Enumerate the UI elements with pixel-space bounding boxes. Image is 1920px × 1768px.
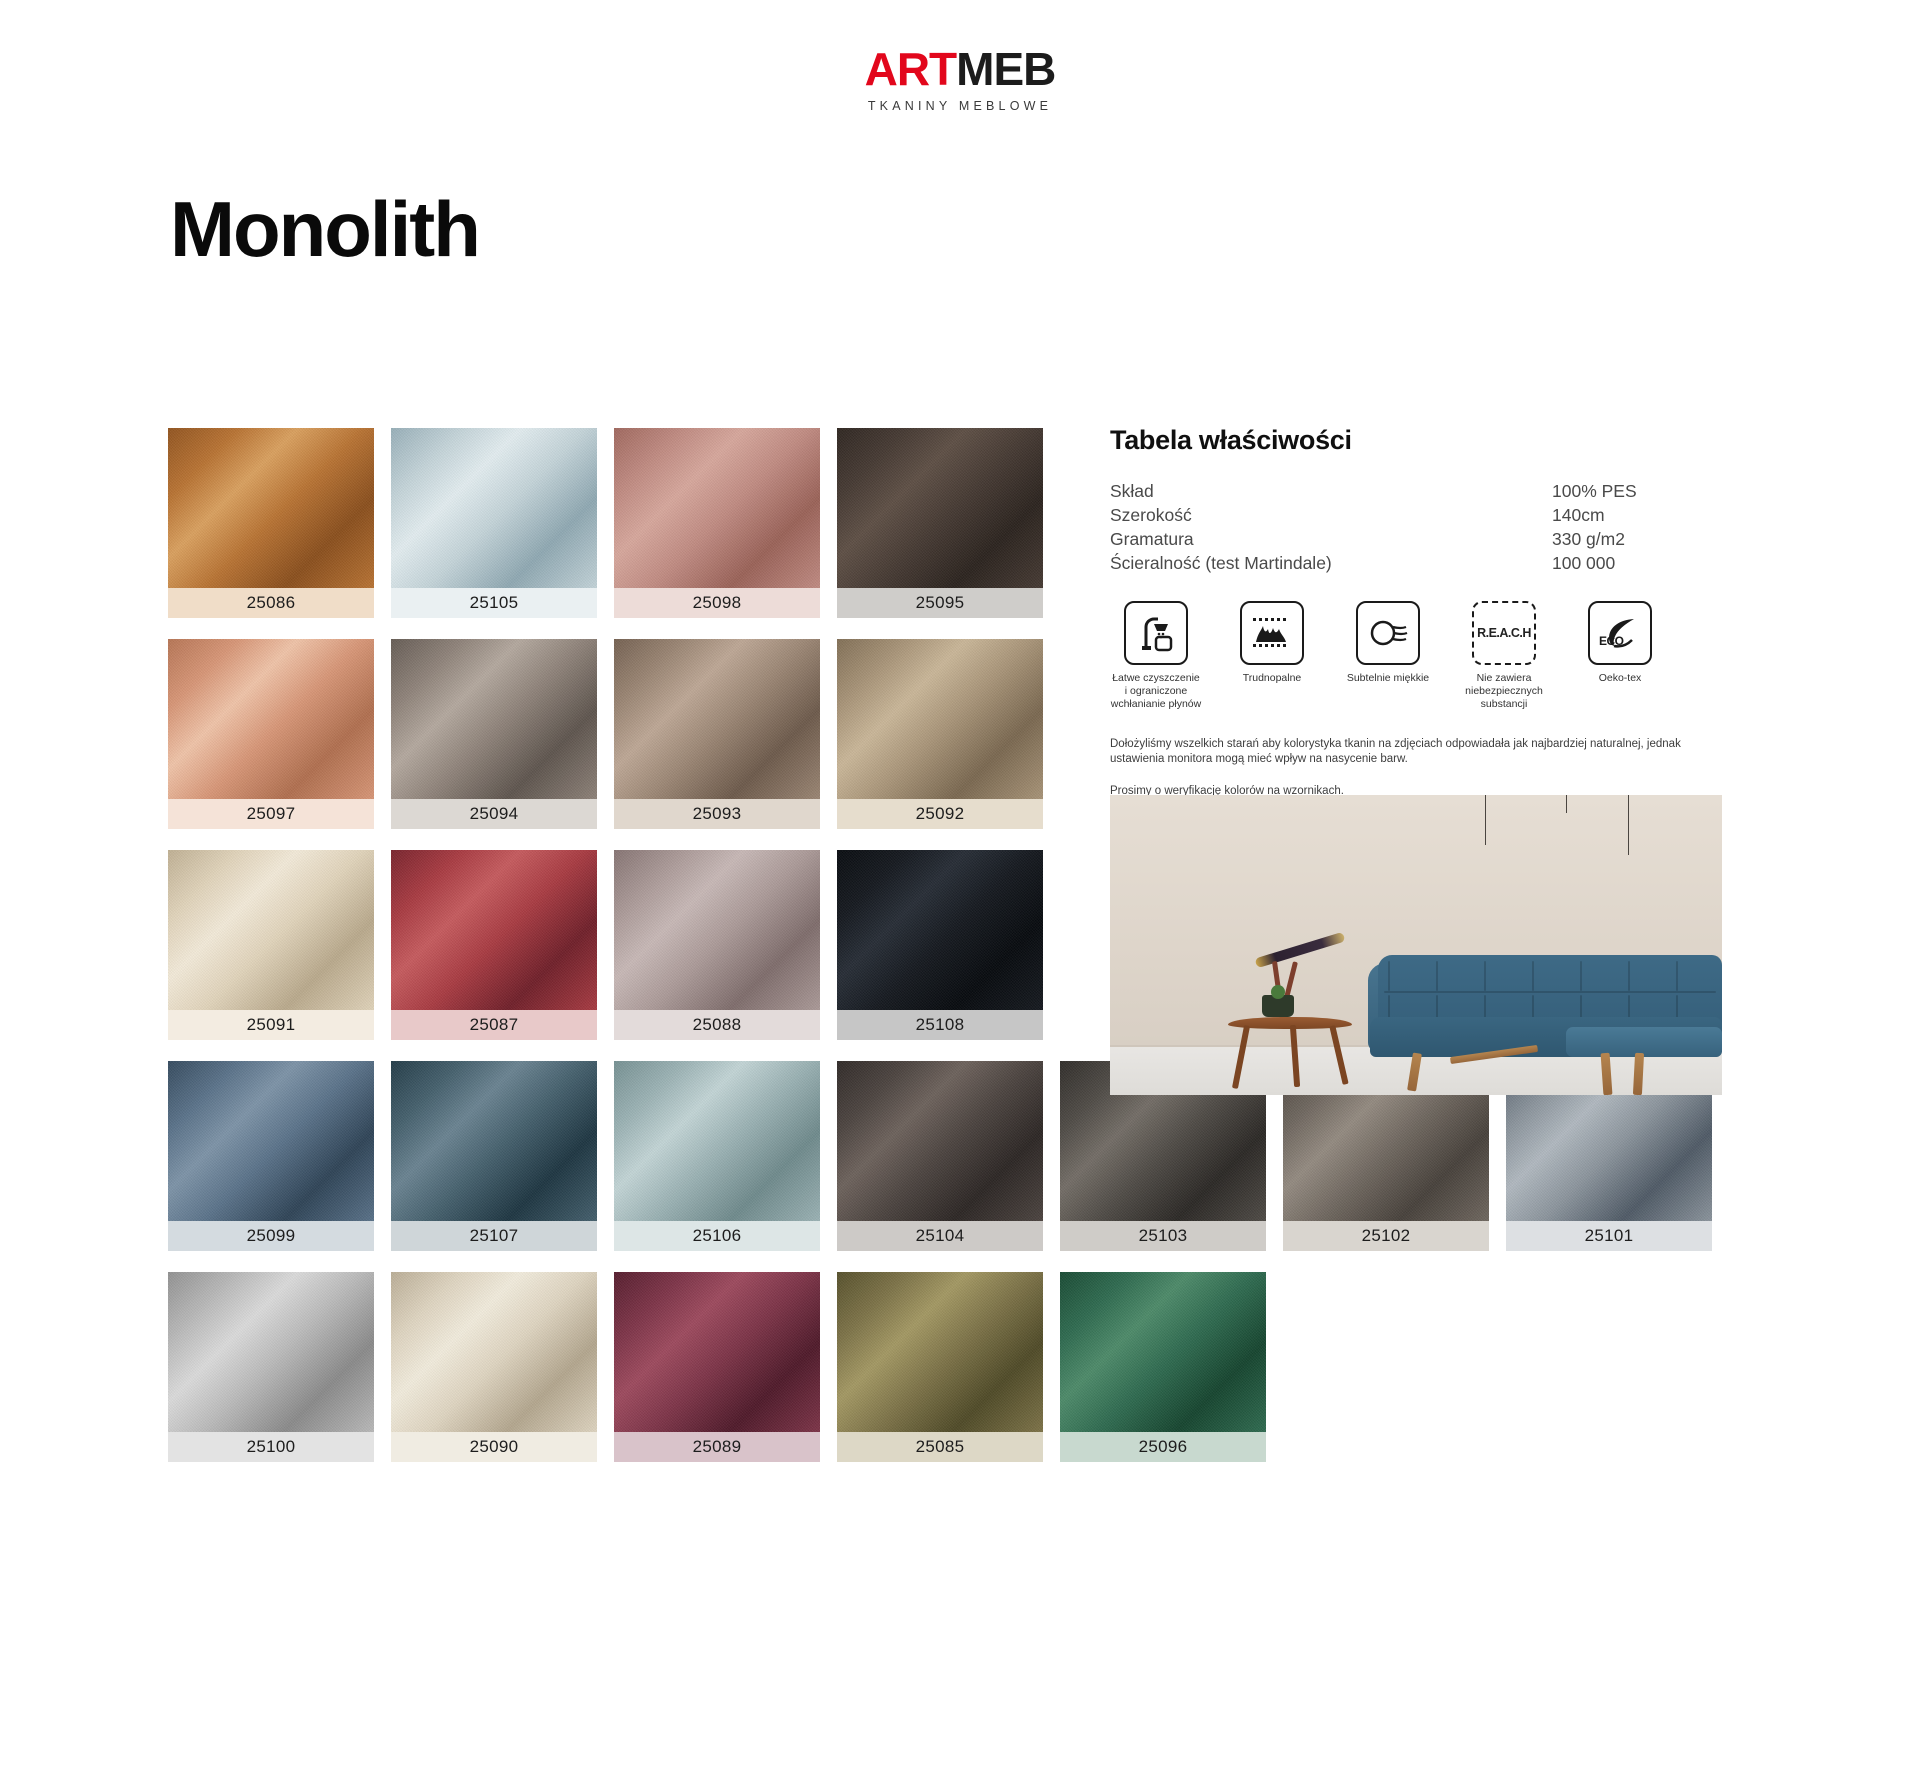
swatch-fabric-image	[837, 1272, 1043, 1432]
swatch-code-label: 25102	[1283, 1221, 1489, 1251]
swatch-code-label: 25107	[391, 1221, 597, 1251]
properties-panel: Tabela właściwości Skład100% PESSzerokoś…	[1110, 425, 1722, 799]
swatch-25086[interactable]: 25086	[168, 428, 374, 618]
swatch-code-label: 25085	[837, 1432, 1043, 1462]
swatch-code-label: 25095	[837, 588, 1043, 618]
fabric-grain	[614, 428, 820, 588]
swatch-code-label: 25096	[1060, 1432, 1266, 1462]
easy-clean-icon	[1124, 601, 1188, 665]
feature-caption: Subtelnie miękkie	[1342, 672, 1434, 685]
swatch-fabric-image	[614, 850, 820, 1010]
swatch-code-label: 25100	[168, 1432, 374, 1462]
reach-icon: R.E.A.C.H	[1472, 601, 1536, 665]
swatch-25095[interactable]: 25095	[837, 428, 1043, 618]
soft-touch-icon	[1356, 601, 1420, 665]
swatch-fabric-image	[391, 1272, 597, 1432]
feature-eco-leaf-icon: ECOOeko-tex	[1574, 601, 1666, 711]
feature-caption: Łatwe czyszczenie i ograniczone wchłania…	[1110, 672, 1202, 711]
swatch-25107[interactable]: 25107	[391, 1061, 597, 1251]
fabric-grain	[837, 639, 1043, 799]
swatch-25092[interactable]: 25092	[837, 639, 1043, 829]
swatch-25100[interactable]: 25100	[168, 1272, 374, 1462]
sofa-tuft-seam	[1580, 961, 1582, 991]
reach-dashed-border	[1472, 601, 1536, 665]
swatch-25105[interactable]: 25105	[391, 428, 597, 618]
lamp-cord	[1485, 795, 1486, 845]
swatch-code-label: 25094	[391, 799, 597, 829]
sofa-tuft-seam	[1388, 961, 1390, 991]
swatch-25108[interactable]: 25108	[837, 850, 1043, 1040]
swatch-fabric-image	[614, 1272, 820, 1432]
swatch-code-label: 25101	[1506, 1221, 1712, 1251]
swatch-25096[interactable]: 25096	[1060, 1272, 1266, 1462]
swatch-code-label: 25103	[1060, 1221, 1266, 1251]
swatch-25106[interactable]: 25106	[614, 1061, 820, 1251]
sofa-ottoman	[1566, 1027, 1722, 1057]
property-row: Skład100% PES	[1110, 479, 1722, 503]
swatch-fabric-image	[837, 639, 1043, 799]
logo-wordmark: ARTMEB	[0, 46, 1920, 92]
swatch-code-label: 25105	[391, 588, 597, 618]
feature-soft-touch-icon: Subtelnie miękkie	[1342, 601, 1434, 711]
swatch-25094[interactable]: 25094	[391, 639, 597, 829]
cactus	[1271, 985, 1285, 999]
sofa-tuft-seam	[1532, 961, 1534, 991]
swatch-fabric-image	[837, 428, 1043, 588]
swatch-fabric-image	[614, 1061, 820, 1221]
property-name: Ścieralność (test Martindale)	[1110, 551, 1332, 575]
swatch-fabric-image	[168, 1061, 374, 1221]
swatch-25099[interactable]: 25099	[168, 1061, 374, 1251]
swatch-code-label: 25086	[168, 588, 374, 618]
swatch-fabric-image	[614, 428, 820, 588]
property-name: Skład	[1110, 479, 1154, 503]
property-name: Szerokość	[1110, 503, 1192, 527]
feature-caption: Nie zawiera niebezpiecznych substancji	[1458, 672, 1550, 711]
fabric-grain	[168, 1061, 374, 1221]
swatch-fabric-image	[168, 639, 374, 799]
feature-caption: Oeko-tex	[1574, 672, 1666, 685]
swatch-25089[interactable]: 25089	[614, 1272, 820, 1462]
swatch-fabric-image	[168, 428, 374, 588]
feature-flame-retardant-icon: Trudnopalne	[1226, 601, 1318, 711]
swatch-25087[interactable]: 25087	[391, 850, 597, 1040]
disclaimer-paragraph-1: Dołożyliśmy wszelkich starań aby kolorys…	[1110, 737, 1710, 767]
fabric-grain	[614, 850, 820, 1010]
properties-table: Skład100% PESSzerokość140cmGramatura330 …	[1110, 479, 1722, 575]
property-value: 140cm	[1552, 503, 1722, 527]
swatch-fabric-image	[391, 850, 597, 1010]
feature-reach-icon: R.E.A.C.HNie zawiera niebezpiecznych sub…	[1458, 601, 1550, 711]
fabric-grain	[614, 1061, 820, 1221]
brand-logo: ARTMEB TKANINY MEBLOWE	[0, 46, 1920, 113]
swatch-fabric-image	[168, 1272, 374, 1432]
swatch-25104[interactable]: 25104	[837, 1061, 1043, 1251]
swatch-fabric-image	[1060, 1272, 1266, 1432]
fabric-grain	[391, 850, 597, 1010]
property-value: 100 000	[1552, 551, 1722, 575]
swatch-row: 2510025090250892508525096	[168, 1272, 1728, 1462]
fabric-grain	[168, 850, 374, 1010]
swatch-fabric-image	[837, 850, 1043, 1010]
feature-easy-clean-icon: Łatwe czyszczenie i ograniczone wchłania…	[1110, 601, 1202, 711]
sofa-tuft-seam	[1628, 961, 1630, 991]
fabric-grain	[614, 639, 820, 799]
eco-leaf-icon: ECO	[1588, 601, 1652, 665]
properties-title: Tabela właściwości	[1110, 425, 1722, 456]
swatch-code-label: 25090	[391, 1432, 597, 1462]
fabric-grain	[614, 1272, 820, 1432]
swatch-25090[interactable]: 25090	[391, 1272, 597, 1462]
fabric-grain	[168, 639, 374, 799]
swatch-code-label: 25087	[391, 1010, 597, 1040]
swatch-fabric-image	[614, 639, 820, 799]
property-value: 330 g/m2	[1552, 527, 1722, 551]
disclaimer-text: Dołożyliśmy wszelkich starań aby kolorys…	[1110, 737, 1710, 799]
property-row: Szerokość140cm	[1110, 503, 1722, 527]
swatch-fabric-image	[391, 428, 597, 588]
sofa-tuft-seam	[1676, 961, 1678, 991]
swatch-25091[interactable]: 25091	[168, 850, 374, 1040]
swatch-fabric-image	[391, 639, 597, 799]
fabric-grain	[837, 428, 1043, 588]
fabric-grain	[391, 428, 597, 588]
fabric-grain	[1060, 1272, 1266, 1432]
property-row: Gramatura330 g/m2	[1110, 527, 1722, 551]
swatch-code-label: 25099	[168, 1221, 374, 1251]
swatch-25098[interactable]: 25098	[614, 428, 820, 618]
swatch-code-label: 25108	[837, 1010, 1043, 1040]
swatch-fabric-image	[391, 1061, 597, 1221]
interior-scene-photo	[1110, 795, 1722, 1095]
page-title: Monolith	[170, 190, 479, 268]
swatch-code-label: 25093	[614, 799, 820, 829]
feature-caption: Trudnopalne	[1226, 672, 1318, 685]
swatch-code-label: 25104	[837, 1221, 1043, 1251]
eco-label: ECO	[1599, 634, 1624, 648]
property-name: Gramatura	[1110, 527, 1194, 551]
swatch-25085[interactable]: 25085	[837, 1272, 1043, 1462]
property-row: Ścieralność (test Martindale)100 000	[1110, 551, 1722, 575]
feature-icon-row: Łatwe czyszczenie i ograniczone wchłania…	[1110, 601, 1722, 711]
swatch-code-label: 25097	[168, 799, 374, 829]
swatch-code-label: 25089	[614, 1432, 820, 1462]
swatch-fabric-image	[837, 1061, 1043, 1221]
fabric-grain	[837, 1272, 1043, 1432]
lamp-cord	[1628, 795, 1629, 855]
swatch-25093[interactable]: 25093	[614, 639, 820, 829]
fabric-grain	[168, 428, 374, 588]
fabric-grain	[391, 639, 597, 799]
swatch-code-label: 25106	[614, 1221, 820, 1251]
swatch-code-label: 25091	[168, 1010, 374, 1040]
sofa-tuft-seam	[1436, 961, 1438, 991]
sofa-tuft-seam	[1484, 961, 1486, 991]
swatch-25088[interactable]: 25088	[614, 850, 820, 1040]
swatch-fabric-image	[168, 850, 374, 1010]
sofa-tuft-seam	[1384, 991, 1716, 993]
fabric-grain	[391, 1272, 597, 1432]
fabric-grain	[391, 1061, 597, 1221]
swatch-code-label: 25092	[837, 799, 1043, 829]
swatch-code-label: 25088	[614, 1010, 820, 1040]
flame-retardant-icon	[1240, 601, 1304, 665]
fabric-grain	[168, 1272, 374, 1432]
logo-art-text: ART	[865, 43, 957, 95]
swatch-25097[interactable]: 25097	[168, 639, 374, 829]
logo-meb-text: MEB	[956, 43, 1055, 95]
swatch-code-label: 25098	[614, 588, 820, 618]
property-value: 100% PES	[1552, 479, 1722, 503]
fabric-grain	[837, 1061, 1043, 1221]
logo-tagline: TKANINY MEBLOWE	[0, 99, 1920, 113]
fabric-grain	[837, 850, 1043, 1010]
